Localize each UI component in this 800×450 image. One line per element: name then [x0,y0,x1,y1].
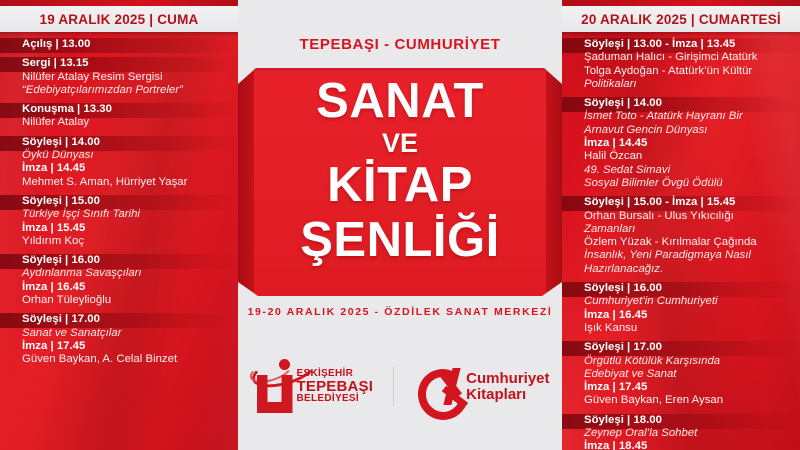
schedule-line-title: İmza | 14.45 [22,162,228,175]
title-banner: SANAT VE KİTAP ŞENLİĞİ [238,68,562,296]
schedule-line-detail: Politikaları [584,78,794,91]
tepebasi-logo-line3: BELEDİYESİ [297,394,374,404]
tepebasi-municipality-logo: ESKİŞEHİR TEPEBAŞI BELEDİYESİ [251,357,369,417]
schedule-line-detail: Nilüfer Atalay [22,116,228,129]
schedule-line-detail: Mehmet S. Aman, Hürriyet Yaşar [22,176,228,189]
day1-date-label: 19 ARALIK 2025 | CUMA [39,12,198,27]
schedule-line-detail: Zeynep Oral’la Sohbet [584,427,794,440]
schedule-line-title: Söyleşi | 17.00 [22,313,228,326]
logo-divider [393,367,394,407]
schedule-block: Açılış | 13.00 [0,38,238,54]
schedule-line-title: Söyleşi | 18.00 [584,414,794,427]
schedule-line-title: Sergi | 13.15 [22,57,228,70]
schedule-line-title: İmza | 16.45 [584,309,794,322]
logo-row: ESKİŞEHİR TEPEBAŞI BELEDİYESİ Cumhuriyet… [238,352,562,422]
schedule-block: Söyleşi | 16.00Aydınlanma Savaşçılarıİmz… [0,254,238,310]
schedule-line-title: Söyleşi | 15.00 [22,195,228,208]
schedule-block: Söyleşi | 13.00 - İmza | 13.45Şaduman Ha… [562,38,800,94]
schedule-line-detail: Edebiyat ve Sanat [584,368,794,381]
schedule-block: Söyleşi | 15.00Türkiye İşçi Sınıfı Tarih… [0,195,238,251]
schedule-line-detail: Türkiye İşçi Sınıfı Tarihi [22,208,228,221]
poster-title: SANAT VE KİTAP ŞENLİĞİ [238,74,562,268]
poster-center: TEPEBAŞI - CUMHURİYET SANAT VE KİTAP ŞEN… [238,0,562,450]
banner-top-rule [254,68,546,71]
schedule-line-title: Söyleşi | 13.00 - İmza | 13.45 [584,38,794,51]
venue-line: 19-20 ARALIK 2025 - ÖZDİLEK SANAT MERKEZ… [238,306,562,318]
schedule-line-detail: Örgütlü Kötülük Karşısında [584,355,794,368]
schedule-line-detail: Sanat ve Sanatçılar [22,327,228,340]
day1-column: 19 ARALIK 2025 | CUMA Açılış | 13.00Serg… [0,0,238,450]
schedule-line-detail: “Edebiyatçılarımızdan Portreler” [22,84,228,97]
schedule-block: Sergi | 13.15Nilüfer Atalay Resim Sergis… [0,57,238,100]
title-line-2: VE [238,128,562,158]
schedule-line-title: İmza | 17.45 [584,381,794,394]
day1-date-header: 19 ARALIK 2025 | CUMA [0,6,238,32]
ck-logo-text: Cumhuriyet Kitapları [466,371,549,403]
schedule-line-detail: İnsanlık, Yeni Paradigmaya Nasıl [584,249,794,262]
schedule-line-title: Söyleşi | 14.00 [22,136,228,149]
ck-logo-line1: Cumhuriyet [466,371,549,387]
cumhuriyet-kitaplari-logo: Cumhuriyet Kitapları [418,363,550,411]
schedule-line-detail: Cumhuriyet’in Cumhuriyeti [584,295,794,308]
schedule-block: Söyleşi | 17.00Sanat ve Sanatçılarİmza |… [0,313,238,369]
schedule-line-title: Söyleşi | 16.00 [584,282,794,295]
schedule-line-detail: Arnavut Gencin Dünyası [584,124,794,137]
schedule-line-detail: Hazırlanacağız. [584,263,794,276]
day2-date-header: 20 ARALIK 2025 | CUMARTESİ [562,6,800,32]
schedule-line-detail: Halil Özcan [584,150,794,163]
schedule-line-detail: Güven Baykan, A. Celal Binzet [22,353,228,366]
title-line-3: KİTAP [238,158,562,212]
ck-monogram-icon [418,367,462,407]
poster-kicker: TEPEBAŞI - CUMHURİYET [238,36,562,53]
schedule-line-detail: Aydınlanma Savaşçıları [22,267,228,280]
schedule-line-detail: Orhan Tüleylioğlu [22,294,228,307]
schedule-block: Söyleşi | 15.00 - İmza | 15.45Orhan Burs… [562,196,800,279]
schedule-line-detail: Tolga Aydoğan - Atatürk’ün Kültür [584,65,794,78]
day1-schedule-list: Açılış | 13.00Sergi | 13.15Nilüfer Atala… [0,32,238,450]
day2-date-label: 20 ARALIK 2025 | CUMARTESİ [581,12,781,27]
schedule-line-detail: Nilüfer Atalay Resim Sergisi [22,71,228,84]
schedule-line-detail: İsmet Toto - Atatürk Hayranı Bir [584,110,794,123]
title-line-1: SANAT [238,74,562,128]
day2-column: 20 ARALIK 2025 | CUMARTESİ Söyleşi | 13.… [562,0,800,450]
schedule-line-title: Açılış | 13.00 [22,38,228,51]
schedule-line-title: Söyleşi | 15.00 - İmza | 15.45 [584,196,794,209]
schedule-line-title: İmza | 14.45 [584,137,794,150]
schedule-line-detail: Yıldırım Koç [22,235,228,248]
schedule-line-title: Konuşma | 13.30 [22,103,228,116]
schedule-line-title: Söyleşi | 16.00 [22,254,228,267]
schedule-line-detail: Şaduman Halıcı - Girişimci Atatürk [584,51,794,64]
schedule-line-detail: 49. Sedat Simavi [584,164,794,177]
schedule-line-detail: Orhan Bursalı - Ulus Yıkıcılığı [584,210,794,223]
schedule-block: Söyleşi | 16.00Cumhuriyet’in Cumhuriyeti… [562,282,800,338]
schedule-line-title: İmza | 18.45 [584,440,794,450]
schedule-line-title: İmza | 17.45 [22,340,228,353]
schedule-line-detail: Özlem Yüzak - Kırılmalar Çağında [584,236,794,249]
schedule-line-detail: Güven Baykan, Eren Aysan [584,394,794,407]
schedule-line-title: Söyleşi | 14.00 [584,97,794,110]
tepebasi-logo-text: ESKİŞEHİR TEPEBAŞI BELEDİYESİ [297,369,374,405]
day2-schedule-list: Söyleşi | 13.00 - İmza | 13.45Şaduman Ha… [562,32,800,450]
title-line-4: ŞENLİĞİ [238,212,562,268]
schedule-line-title: İmza | 16.45 [22,281,228,294]
schedule-block: Söyleşi | 14.00İsmet Toto - Atatürk Hayr… [562,97,800,193]
schedule-line-title: İmza | 15.45 [22,222,228,235]
ck-logo-line2: Kitapları [466,387,549,403]
schedule-block: Söyleşi | 17.00Örgütlü Kötülük Karşısınd… [562,341,800,410]
event-poster: 19 ARALIK 2025 | CUMA Açılış | 13.00Serg… [0,0,800,450]
schedule-line-detail: Sosyal Bilimler Övgü Ödülü [584,177,794,190]
schedule-line-title: Söyleşi | 17.00 [584,341,794,354]
schedule-block: Söyleşi | 14.00Öykü Dünyasıİmza | 14.45M… [0,136,238,192]
schedule-block: Söyleşi | 18.00Zeynep Oral’la Sohbetİmza… [562,414,800,450]
schedule-line-detail: Öykü Dünyası [22,149,228,162]
person-head-icon [279,359,290,370]
schedule-line-detail: Işık Kansu [584,322,794,335]
schedule-line-detail: Zamanları [584,223,794,236]
schedule-block: Konuşma | 13.30Nilüfer Atalay [0,103,238,133]
